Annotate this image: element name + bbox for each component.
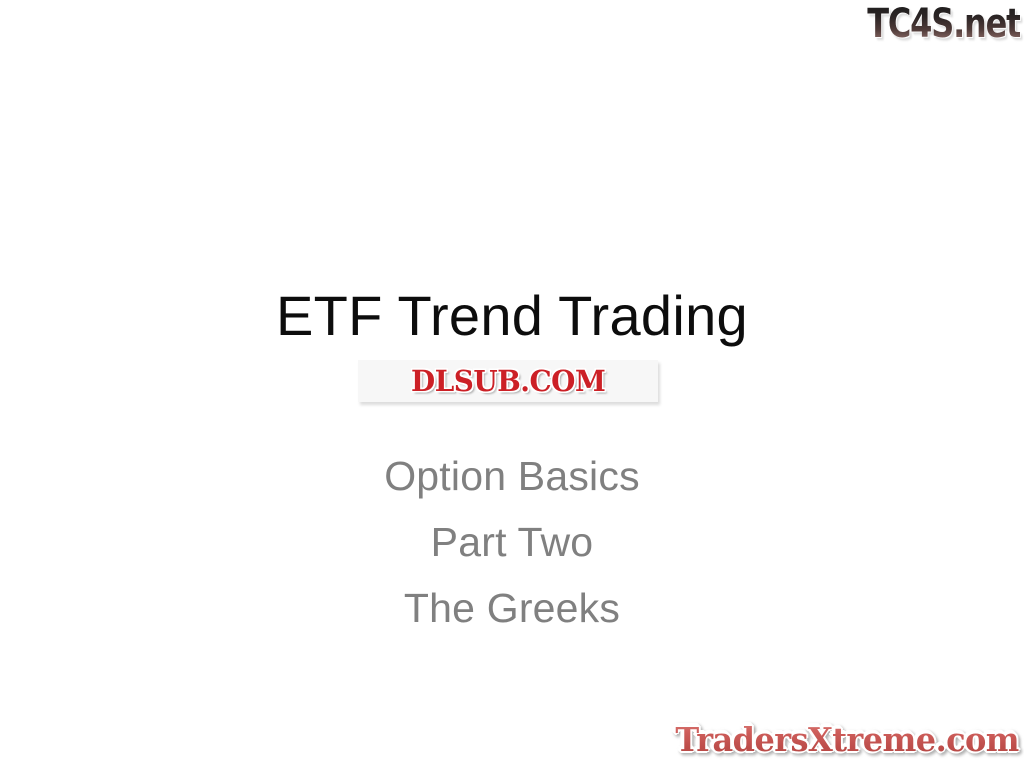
watermark-dlsub-panel: DLSUB.COM (358, 360, 658, 402)
watermark-dlsub-text: DLSUB.COM (411, 366, 605, 396)
subtitle-line-1: Option Basics (0, 443, 1024, 509)
subtitle-line-3: The Greeks (0, 575, 1024, 641)
watermark-tc4s: TC4S.net (867, 2, 1020, 46)
presentation-slide: TC4S.net ETF Trend Trading DLSUB.COM Opt… (0, 0, 1024, 768)
watermark-tradersxtreme-text: TradersXtreme.com (675, 720, 1019, 760)
subtitle-block: Option Basics Part Two The Greeks (0, 443, 1024, 641)
watermark-tradersxtreme: TradersXtreme.com (670, 720, 1024, 760)
page-title: ETF Trend Trading (0, 284, 1024, 348)
subtitle-line-2: Part Two (0, 509, 1024, 575)
title-block: ETF Trend Trading (0, 284, 1024, 348)
